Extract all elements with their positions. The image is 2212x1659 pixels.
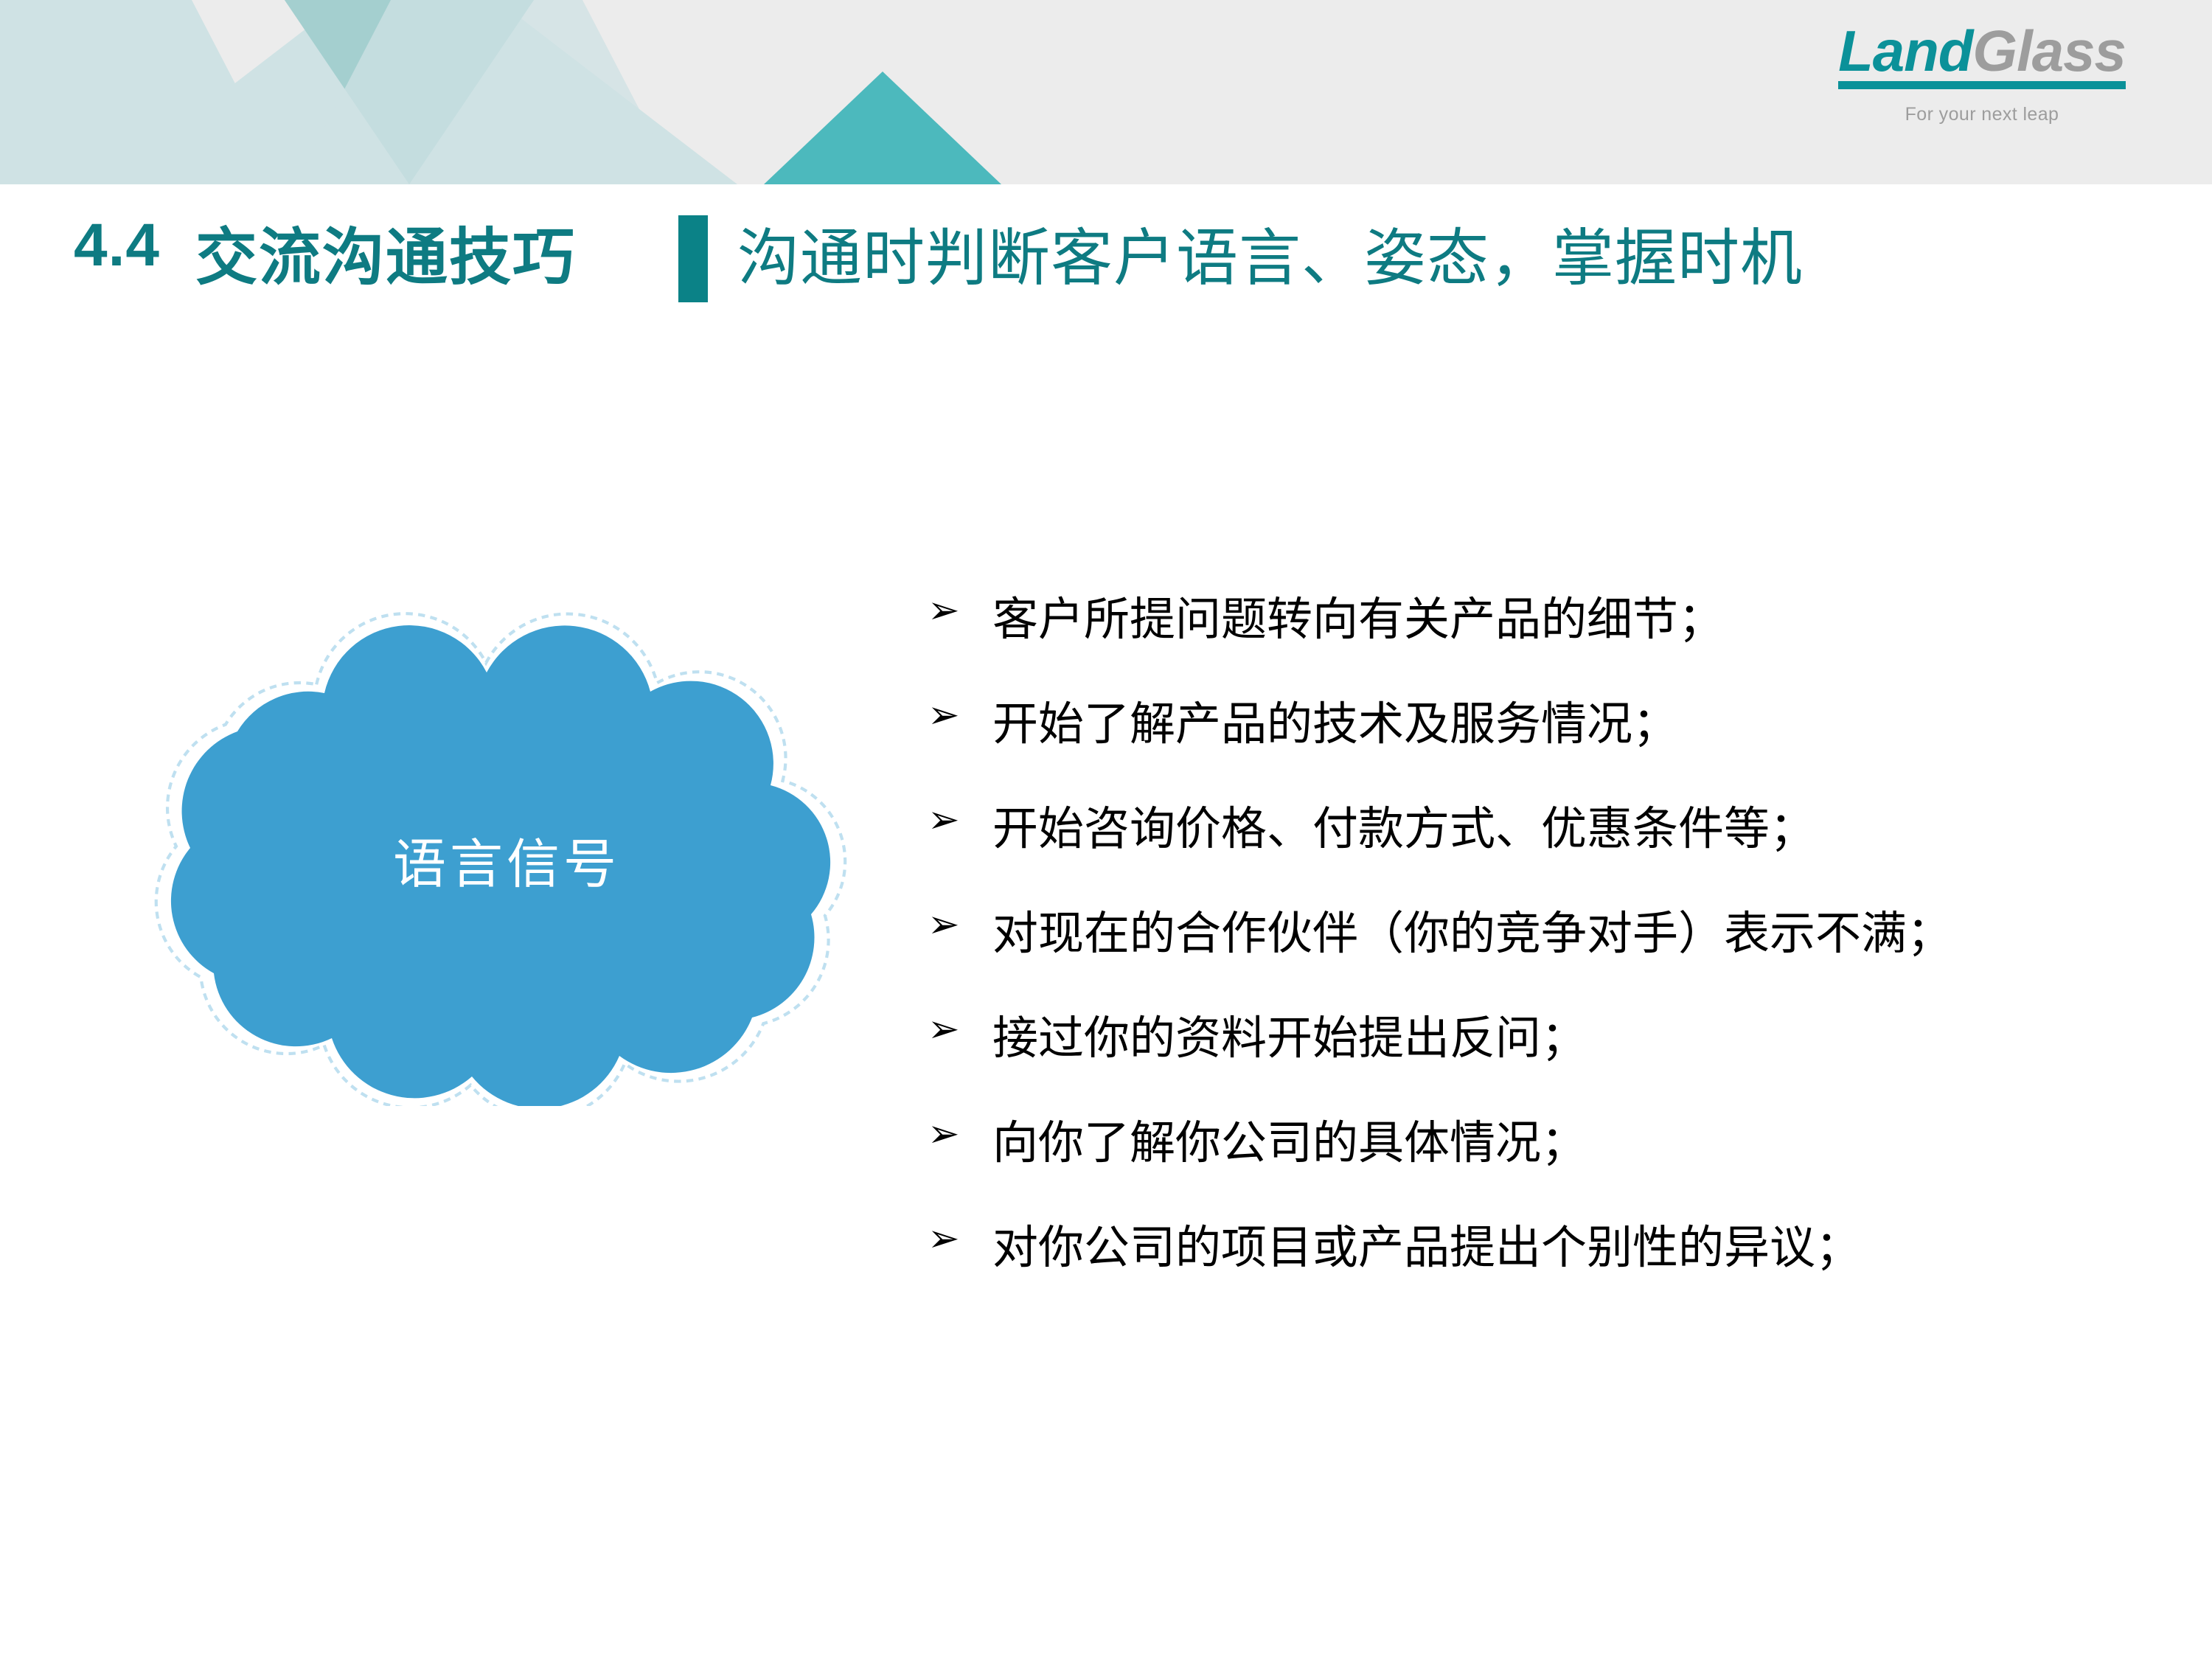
list-item: ➢ 对现在的合作伙伴（你的竞争对手）表示不满；: [922, 897, 2072, 972]
list-item-text: 客户所提问题转向有关产品的细节；: [992, 582, 2072, 658]
list-item: ➢ 向你了解你公司的具体情况；: [922, 1106, 2072, 1181]
list-item-text: 对你公司的项目或产品提出个别性的异议；: [992, 1211, 2072, 1286]
arrow-bullet-icon: ➢: [922, 687, 992, 743]
arrow-bullet-icon: ➢: [922, 1001, 992, 1057]
arrow-bullet-icon: ➢: [922, 897, 992, 953]
list-item-text: 开始了解产品的技术及服务情况；: [992, 687, 2072, 762]
signal-bullet-list: ➢ 客户所提问题转向有关产品的细节； ➢ 开始了解产品的技术及服务情况； ➢ 开…: [922, 582, 2072, 1315]
logo-wordmark: LandGlass: [1838, 22, 2126, 89]
list-item-text: 向你了解你公司的具体情况；: [992, 1106, 2072, 1181]
list-item-text: 对现在的合作伙伴（你的竞争对手）表示不满；: [992, 897, 2072, 972]
cloud-label: 语言信号: [103, 605, 900, 1106]
arrow-bullet-icon: ➢: [922, 792, 992, 848]
list-item-text: 接过你的资料开始提出反问；: [992, 1001, 2072, 1077]
brand-logo: LandGlass For your next leap: [1805, 22, 2159, 124]
slide-subtitle: 沟通时判断客户语言、姿态，掌握时机: [737, 206, 1803, 310]
section-number: 4.4: [74, 211, 160, 280]
list-item: ➢ 客户所提问题转向有关产品的细节；: [922, 582, 2072, 658]
deco-triangle-solid: [764, 72, 1001, 184]
arrow-bullet-icon: ➢: [922, 1106, 992, 1162]
logo-word-land: Land: [1838, 18, 1972, 83]
arrow-bullet-icon: ➢: [922, 1211, 992, 1267]
section-title: 交流沟通技巧: [195, 208, 576, 297]
list-item: ➢ 对你公司的项目或产品提出个别性的异议；: [922, 1211, 2072, 1286]
list-item: ➢ 开始了解产品的技术及服务情况；: [922, 687, 2072, 762]
logo-word-glass: Glass: [1972, 18, 2125, 83]
list-item-text: 开始咨询价格、付款方式、优惠条件等；: [992, 792, 2072, 867]
list-item: ➢ 接过你的资料开始提出反问；: [922, 1001, 2072, 1077]
cloud-callout: 语言信号: [103, 605, 900, 1106]
arrow-bullet-icon: ➢: [922, 582, 992, 639]
subtitle-accent-bar: [678, 215, 708, 302]
logo-tagline: For your next leap: [1805, 105, 2159, 124]
list-item: ➢ 开始咨询价格、付款方式、优惠条件等；: [922, 792, 2072, 867]
